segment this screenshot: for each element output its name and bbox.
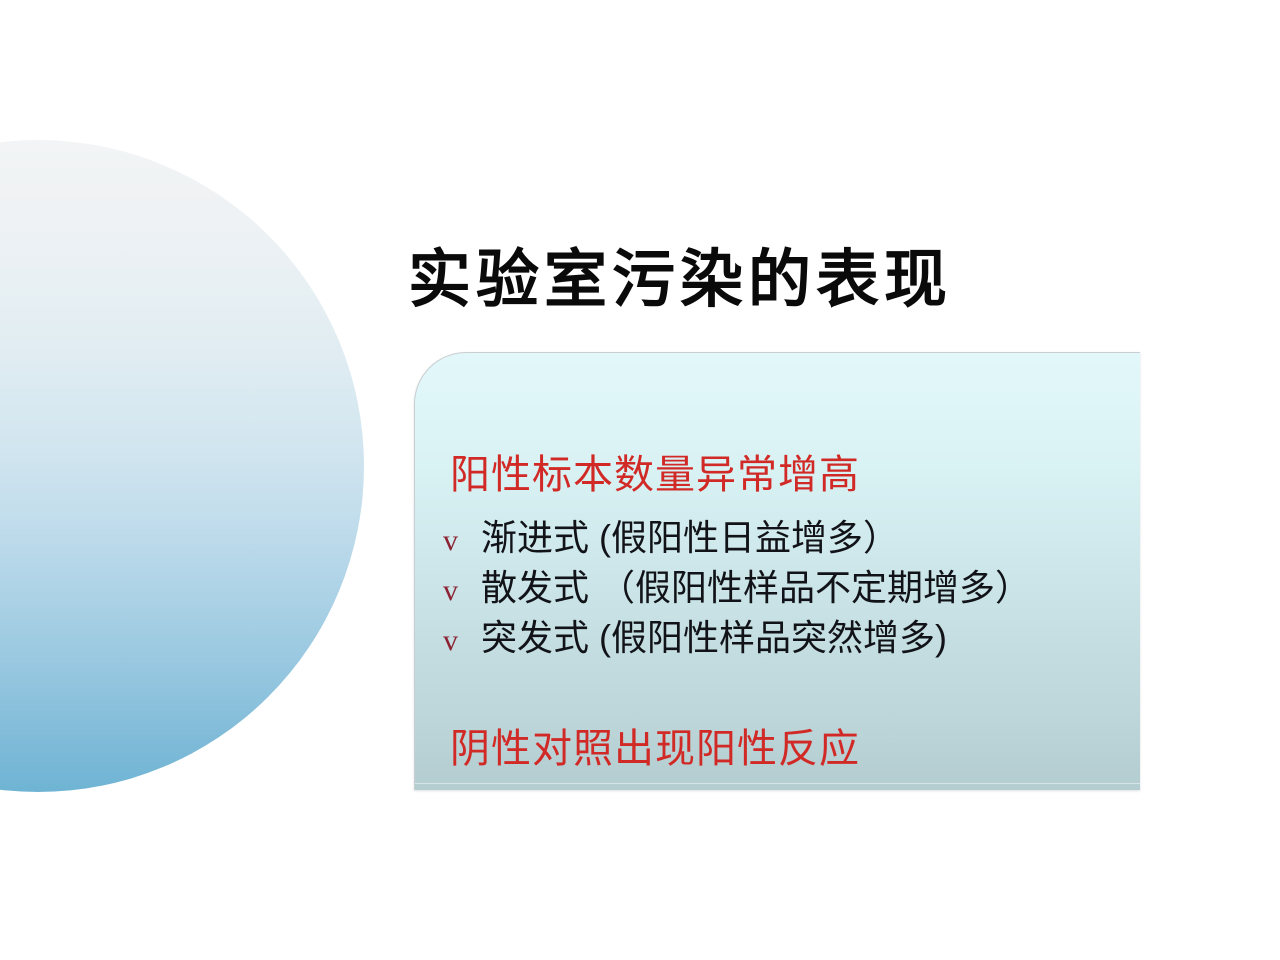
list-item: v突发式 (假阳性样品突然增多) <box>443 613 1133 663</box>
bullet-marker-icon: v <box>443 566 481 616</box>
bullet-marker-icon: v <box>443 516 481 566</box>
slide-canvas: 实验室污染的表现 阳性标本数量异常增高 v渐进式 (假阳性日益增多） v散发式 … <box>0 0 1280 960</box>
content-panel: 阳性标本数量异常增高 v渐进式 (假阳性日益增多） v散发式 （假阳性样品不定期… <box>414 352 1140 790</box>
list-item-label: 突发式 (假阳性样品突然增多) <box>481 613 947 663</box>
panel-heading-primary: 阳性标本数量异常增高 <box>450 451 860 499</box>
list-item-label: 渐进式 (假阳性日益增多） <box>481 513 899 563</box>
bullet-list: v渐进式 (假阳性日益增多） v散发式 （假阳性样品不定期增多） v突发式 (假… <box>443 513 1133 663</box>
list-item-label: 散发式 （假阳性样品不定期增多） <box>481 563 1031 613</box>
panel-heading-secondary: 阴性对照出现阳性反应 <box>450 725 860 773</box>
panel-bottom-divider <box>415 783 1140 784</box>
page-title: 实验室污染的表现 <box>408 236 1008 322</box>
list-item: v渐进式 (假阳性日益增多） <box>443 513 1133 563</box>
bullet-marker-icon: v <box>443 616 481 666</box>
content-panel-inner: 阳性标本数量异常增高 v渐进式 (假阳性日益增多） v散发式 （假阳性样品不定期… <box>415 353 1140 790</box>
list-item: v散发式 （假阳性样品不定期增多） <box>443 563 1133 613</box>
decorative-circle <box>0 140 364 792</box>
